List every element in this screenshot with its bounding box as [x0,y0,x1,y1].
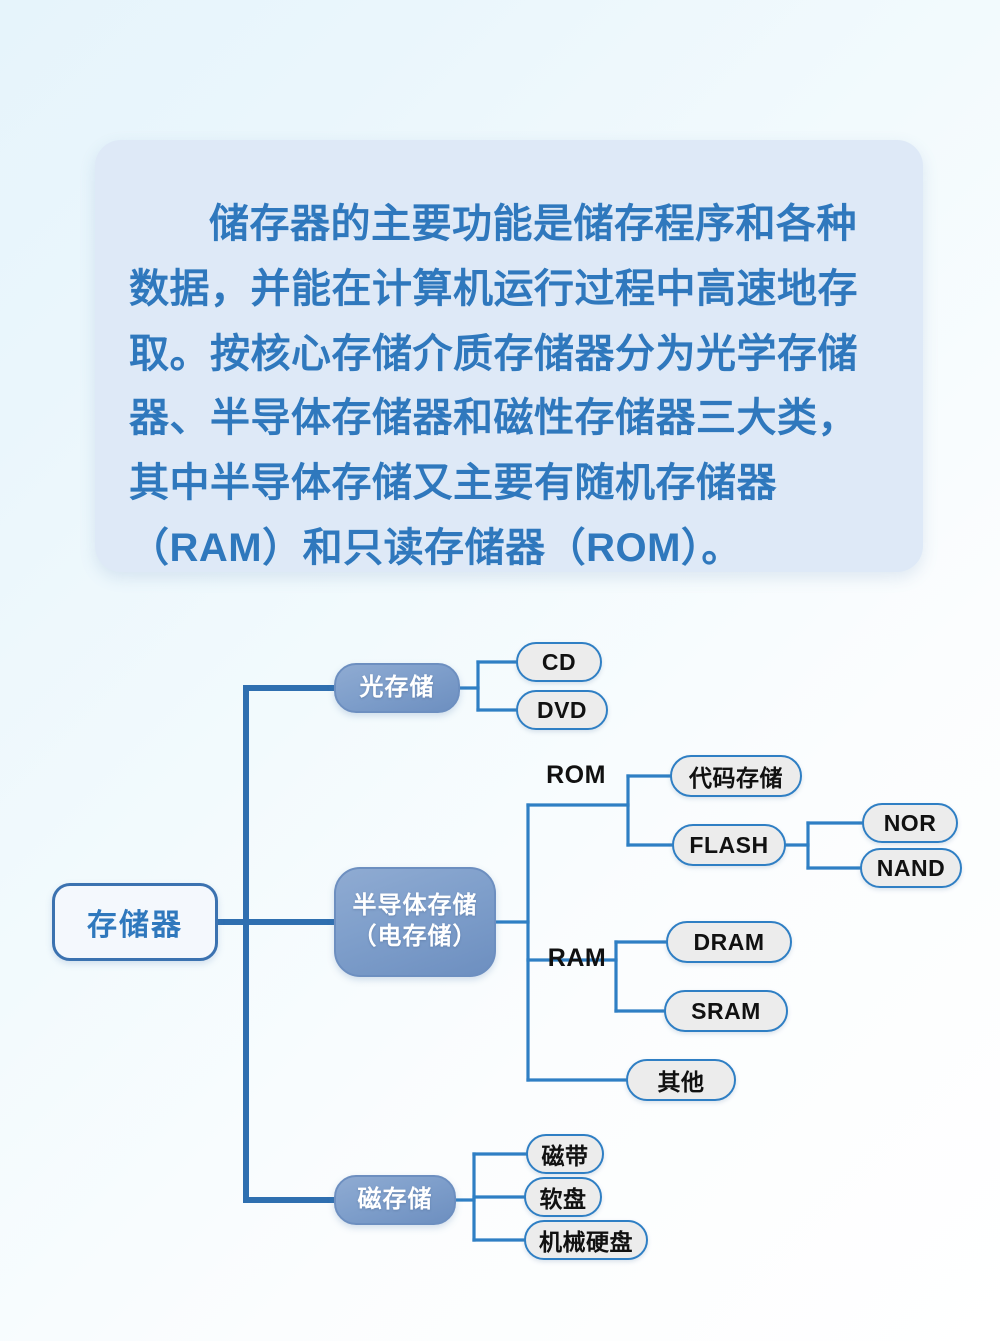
label-rom-text: ROM [546,761,606,790]
connector-flash-children [786,823,862,868]
node-dvd[interactable]: DVD [516,690,608,730]
node-other[interactable]: 其他 [626,1059,736,1101]
node-nor-label: NOR [884,810,937,837]
node-magnetic-tape-label: 磁带 [542,1137,589,1171]
intro-paragraph: 储存器的主要功能是储存程序和各种数据，并能在计算机运行过程中高速地存取。按核心存… [129,192,889,581]
label-ram-text: RAM [548,944,606,973]
node-semiconductor-label-line2: （电存储） [353,922,478,953]
node-magnetic-storage[interactable]: 磁存储 [334,1175,456,1225]
node-code-storage-label: 代码存储 [689,759,783,793]
connector-ram-children [616,942,666,1011]
node-code-storage[interactable]: 代码存储 [670,755,802,797]
node-dvd-label: DVD [537,697,587,724]
node-magnetic-storage-label: 磁存储 [358,1185,433,1216]
node-optical-storage[interactable]: 光存储 [334,663,460,713]
connector-magnetic-children [456,1154,526,1240]
connector-optical-children [460,662,516,710]
node-dram[interactable]: DRAM [666,921,792,963]
node-flash-label: FLASH [689,832,768,859]
node-root-storage[interactable]: 存储器 [52,883,218,961]
node-floppy-disk[interactable]: 软盘 [524,1177,602,1217]
node-sram[interactable]: SRAM [664,990,788,1032]
node-cd-label: CD [542,649,576,676]
connector-rom-children [628,776,672,845]
node-flash[interactable]: FLASH [672,824,786,866]
node-root-label: 存储器 [87,900,183,944]
node-sram-label: SRAM [691,998,761,1025]
label-ram: RAM [542,942,612,974]
node-semiconductor-label-line1: 半导体存储 [353,891,478,922]
connector-root-trunk [218,688,334,1200]
node-nor[interactable]: NOR [862,803,958,843]
node-other-label: 其他 [658,1063,705,1097]
node-hard-disk[interactable]: 机械硬盘 [524,1220,648,1260]
node-cd[interactable]: CD [516,642,602,682]
node-semiconductor-storage[interactable]: 半导体存储 （电存储） [334,867,496,977]
node-nand[interactable]: NAND [860,848,962,888]
mindmap-container: 存储器 光存储 CD DVD 半导体存储 （电存储） ROM 代码存储 FLAS… [0,600,1000,1300]
node-hard-disk-label: 机械硬盘 [539,1223,633,1257]
intro-text-card: 储存器的主要功能是储存程序和各种数据，并能在计算机运行过程中高速地存取。按核心存… [95,140,923,572]
node-dram-label: DRAM [694,929,765,956]
node-floppy-disk-label: 软盘 [540,1180,587,1214]
node-nand-label: NAND [877,855,945,882]
label-rom: ROM [540,759,612,791]
node-magnetic-tape[interactable]: 磁带 [526,1134,604,1174]
node-optical-storage-label: 光存储 [360,673,435,704]
